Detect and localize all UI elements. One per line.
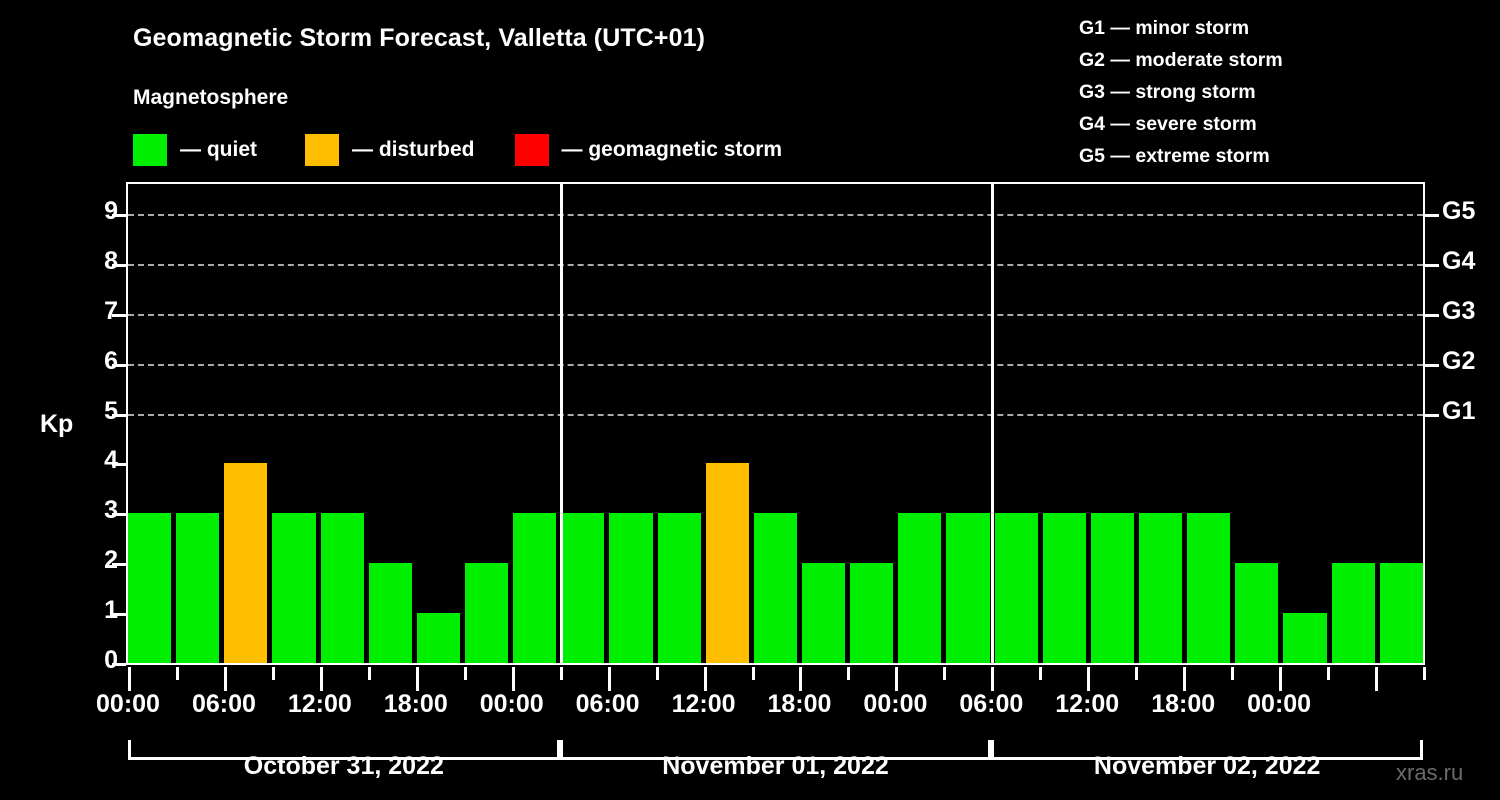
- kp-bar[interactable]: [1043, 513, 1086, 663]
- x-tick-mark: [224, 667, 227, 691]
- kp-bar[interactable]: [1187, 513, 1230, 663]
- kp-bar[interactable]: [946, 513, 989, 663]
- x-tick-mark: [847, 667, 850, 680]
- x-tick-mark: [1039, 667, 1042, 680]
- y-tick-mark: [112, 613, 126, 616]
- kp-bar[interactable]: [1235, 563, 1278, 663]
- x-tick-label: 12:00: [672, 690, 736, 719]
- y-tick-mark: [112, 214, 126, 217]
- y-tick-mark: [112, 513, 126, 516]
- y-tick-mark: [112, 414, 126, 417]
- x-tick-label: 06:00: [192, 690, 256, 719]
- day-label: November 02, 2022: [1094, 752, 1321, 781]
- day-separator: [991, 184, 994, 663]
- color-legend: — quiet — disturbed — geomagnetic storm: [133, 133, 782, 167]
- x-tick-label: 06:00: [959, 690, 1023, 719]
- g-scale-item-g2: G2 — moderate storm: [1079, 44, 1283, 76]
- legend-label-quiet: — quiet: [180, 138, 257, 162]
- x-tick-mark: [895, 667, 898, 691]
- y-tick-label: 7: [78, 297, 118, 326]
- g-tick-label: G5: [1442, 197, 1475, 226]
- kp-bar[interactable]: [224, 463, 267, 663]
- g-tick-label: G4: [1442, 247, 1475, 276]
- g-tick-mark: [1425, 264, 1439, 267]
- kp-bar[interactable]: [802, 563, 845, 663]
- kp-bar[interactable]: [369, 563, 412, 663]
- g-scale-item-g4: G4 — severe storm: [1079, 108, 1283, 140]
- x-tick-mark: [560, 667, 563, 680]
- x-tick-label: 00:00: [480, 690, 544, 719]
- y-tick-label: 5: [78, 397, 118, 426]
- g-tick-mark: [1425, 314, 1439, 317]
- legend-swatch-quiet: [133, 134, 167, 166]
- y-tick-label: 9: [78, 197, 118, 226]
- g-scale-legend: G1 — minor storm G2 — moderate storm G3 …: [1079, 12, 1283, 172]
- legend-item-storm: — geomagnetic storm: [515, 134, 783, 166]
- kp-bar[interactable]: [754, 513, 797, 663]
- g-tick-label: G3: [1442, 297, 1475, 326]
- page-title: Geomagnetic Storm Forecast, Valletta (UT…: [133, 24, 705, 53]
- kp-bar[interactable]: [898, 513, 941, 663]
- legend-swatch-storm: [515, 134, 549, 166]
- kp-bar[interactable]: [176, 513, 219, 663]
- x-tick-mark: [799, 667, 802, 691]
- legend-item-quiet: — quiet: [133, 134, 257, 166]
- y-tick-label: 2: [78, 546, 118, 575]
- x-tick-mark: [991, 667, 994, 691]
- chart-root: Geomagnetic Storm Forecast, Valletta (UT…: [0, 0, 1500, 800]
- y-tick-mark: [112, 264, 126, 267]
- x-tick-mark: [512, 667, 515, 691]
- x-tick-label: 00:00: [1247, 690, 1311, 719]
- x-tick-mark: [704, 667, 707, 691]
- g-scale-item-g1: G1 — minor storm: [1079, 12, 1283, 44]
- g-tick-mark: [1425, 364, 1439, 367]
- kp-bar[interactable]: [465, 563, 508, 663]
- x-tick-mark: [943, 667, 946, 680]
- y-tick-label: 0: [78, 646, 118, 675]
- x-tick-label: 12:00: [1055, 690, 1119, 719]
- chart-subtitle: Magnetosphere: [133, 86, 288, 110]
- kp-bar[interactable]: [995, 513, 1038, 663]
- x-tick-mark: [1087, 667, 1090, 691]
- x-tick-mark: [1183, 667, 1186, 691]
- x-tick-label: 18:00: [1151, 690, 1215, 719]
- x-tick-mark: [1423, 667, 1426, 680]
- y-tick-label: 6: [78, 347, 118, 376]
- kp-bar[interactable]: [513, 513, 556, 663]
- kp-bar[interactable]: [128, 513, 171, 663]
- kp-bar[interactable]: [417, 613, 460, 663]
- x-tick-label: 06:00: [576, 690, 640, 719]
- bar-series: [128, 184, 1423, 663]
- y-tick-mark: [112, 314, 126, 317]
- kp-bar[interactable]: [1332, 563, 1375, 663]
- day-label: November 01, 2022: [662, 752, 889, 781]
- x-tick-label: 00:00: [96, 690, 160, 719]
- y-tick-label: 8: [78, 247, 118, 276]
- kp-bar[interactable]: [1091, 513, 1134, 663]
- kp-bar[interactable]: [561, 513, 604, 663]
- watermark: xras.ru: [1396, 760, 1463, 786]
- g-tick-mark: [1425, 414, 1439, 417]
- x-tick-mark: [176, 667, 179, 680]
- g-tick-mark: [1425, 214, 1439, 217]
- x-tick-mark: [1327, 667, 1330, 680]
- x-tick-mark: [1375, 667, 1378, 691]
- y-tick-label: 3: [78, 496, 118, 525]
- y-tick-mark: [112, 463, 126, 466]
- y-tick-label: 4: [78, 446, 118, 475]
- day-label: October 31, 2022: [244, 752, 444, 781]
- x-tick-label: 18:00: [767, 690, 831, 719]
- x-tick-mark: [416, 667, 419, 691]
- g-scale-item-g5: G5 — extreme storm: [1079, 140, 1283, 172]
- x-tick-label: 12:00: [288, 690, 352, 719]
- g-tick-label: G2: [1442, 347, 1475, 376]
- x-tick-mark: [1279, 667, 1282, 691]
- kp-bar[interactable]: [1139, 513, 1182, 663]
- x-tick-mark: [272, 667, 275, 680]
- y-tick-mark: [112, 364, 126, 367]
- x-tick-mark: [1135, 667, 1138, 680]
- kp-bar[interactable]: [1283, 613, 1326, 663]
- x-tick-mark: [368, 667, 371, 680]
- kp-bar[interactable]: [1380, 563, 1423, 663]
- y-tick-mark: [112, 563, 126, 566]
- x-tick-label: 00:00: [863, 690, 927, 719]
- x-tick-mark: [128, 667, 131, 691]
- x-tick-mark: [464, 667, 467, 680]
- legend-label-storm: — geomagnetic storm: [562, 138, 783, 162]
- y-tick-label: 1: [78, 596, 118, 625]
- kp-bar[interactable]: [321, 513, 364, 663]
- legend-swatch-disturbed: [305, 134, 339, 166]
- x-tick-mark: [320, 667, 323, 691]
- kp-bar[interactable]: [706, 463, 749, 663]
- legend-item-disturbed: — disturbed: [305, 134, 475, 166]
- y-axis-title: Kp: [40, 410, 73, 439]
- kp-bar[interactable]: [272, 513, 315, 663]
- y-tick-mark: [112, 663, 126, 666]
- legend-label-disturbed: — disturbed: [352, 138, 475, 162]
- x-tick-mark: [752, 667, 755, 680]
- day-separator: [560, 184, 563, 663]
- x-tick-mark: [1231, 667, 1234, 680]
- plot-area: [126, 182, 1425, 665]
- x-tick-label: 18:00: [384, 690, 448, 719]
- g-tick-label: G1: [1442, 397, 1475, 426]
- kp-bar[interactable]: [658, 513, 701, 663]
- x-tick-mark: [656, 667, 659, 680]
- g-scale-item-g3: G3 — strong storm: [1079, 76, 1283, 108]
- kp-bar[interactable]: [850, 563, 893, 663]
- x-tick-mark: [608, 667, 611, 691]
- kp-bar[interactable]: [609, 513, 652, 663]
